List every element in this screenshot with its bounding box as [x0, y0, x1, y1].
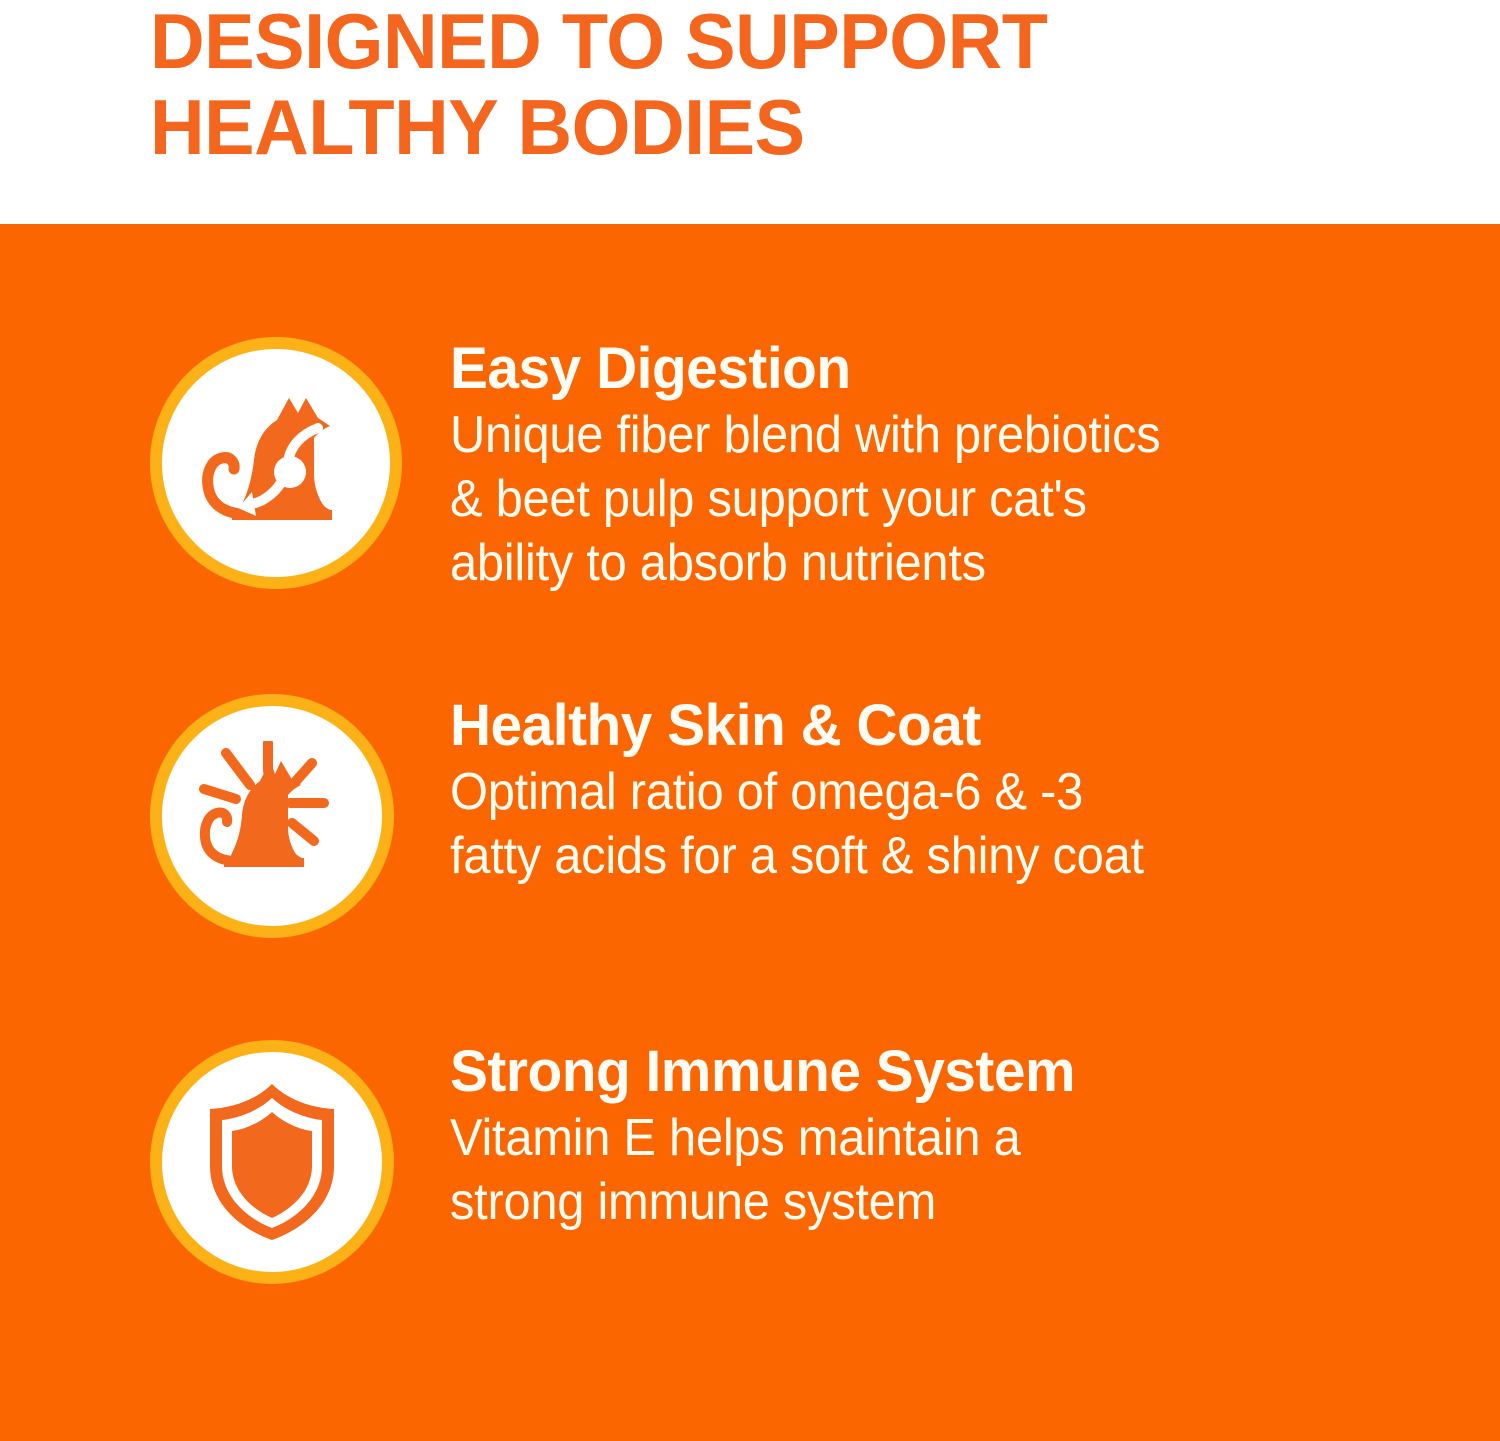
feature-description: Vitamin E helps maintain a strong immune… — [450, 1106, 1418, 1234]
feature-title: Strong Immune System — [450, 1040, 1459, 1104]
feature-title: Easy Digestion — [450, 337, 1459, 401]
sitting-cat-digestion-arrow-icon — [194, 386, 359, 541]
page-title: DESIGNED TO SUPPORT HEALTHY BODIES — [150, 0, 1314, 170]
feature-text-healthy-skin-coat: Healthy Skin & Coat Optimal ratio of ome… — [450, 694, 1480, 888]
feature-description: Optimal ratio of omega-6 & -3 fatty acid… — [450, 760, 1418, 888]
shield-icon — [202, 1082, 342, 1242]
features-panel: Easy Digestion Unique fiber blend with p… — [0, 224, 1500, 1441]
infographic-page: DESIGNED TO SUPPORT HEALTHY BODIES — [0, 0, 1500, 1441]
sitting-cat-shine-rays-icon — [192, 741, 352, 891]
icon-badge-strong-immune-system — [150, 1040, 394, 1284]
feature-description: Unique fiber blend with prebiotics & bee… — [450, 403, 1418, 595]
header-band: DESIGNED TO SUPPORT HEALTHY BODIES — [0, 0, 1500, 224]
icon-badge-healthy-skin-coat — [150, 694, 394, 938]
icon-badge-easy-digestion — [150, 337, 402, 589]
feature-text-strong-immune-system: Strong Immune System Vitamin E helps mai… — [450, 1040, 1480, 1234]
feature-text-easy-digestion: Easy Digestion Unique fiber blend with p… — [450, 337, 1480, 595]
feature-title: Healthy Skin & Coat — [450, 694, 1459, 758]
